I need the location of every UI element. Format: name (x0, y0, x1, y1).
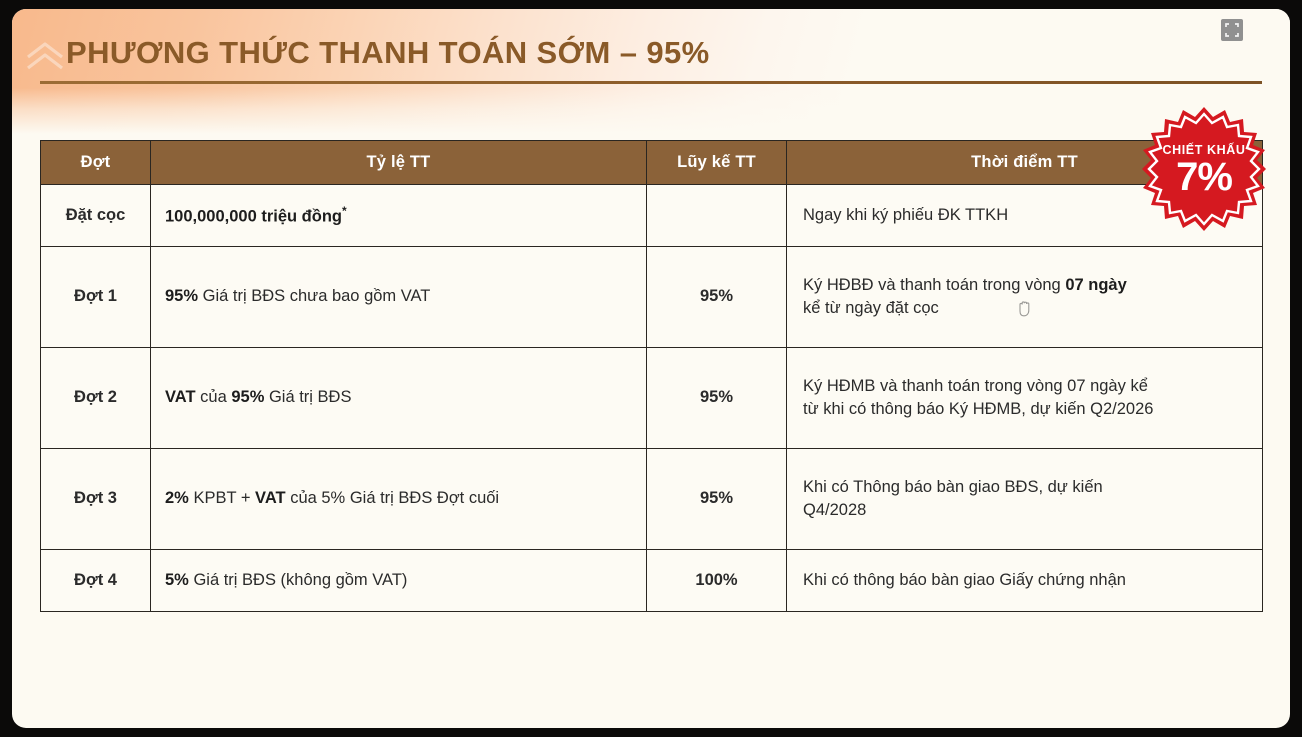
cell-phase: Đợt 4 (41, 550, 151, 612)
ratio-bold: 100,000,000 triệu đồng (165, 207, 342, 225)
cell-cumulative: 95% (647, 348, 787, 449)
cell-cumulative: 95% (647, 449, 787, 550)
ratio-bold-2: 95% (231, 388, 264, 406)
cell-ratio: VAT của 95% Giá trị BĐS (151, 348, 647, 449)
page-title: PHƯƠNG THỨC THANH TOÁN SỚM – 95% (66, 35, 710, 71)
slide-surface: PHƯƠNG THỨC THANH TOÁN SỚM – 95% Hotline… (12, 9, 1290, 728)
time-line-1: Ký HĐMB và thanh toán trong vòng 07 ngày… (803, 377, 1148, 395)
badge-value: 7% (1128, 155, 1280, 200)
ratio-rest: của 5% Giá trị BĐS Đợt cuối (286, 489, 499, 507)
time-line-2: Q4/2028 (803, 501, 866, 519)
ratio-rest: Giá trị BĐS (không gồm VAT) (189, 571, 408, 589)
cell-cumulative: 100% (647, 550, 787, 612)
ratio-bold: 95% (165, 287, 198, 305)
time-line-2: từ khi có thông báo Ký HĐMB, dự kiến Q2/… (803, 400, 1153, 418)
cell-time: Khi có thông báo bàn giao Giấy chứng nhậ… (787, 550, 1263, 612)
payment-schedule-table: Đợt Tỷ lệ TT Lũy kế TT Thời điểm TT Đặt … (40, 140, 1263, 612)
table-row: Đặt cọc 100,000,000 triệu đồng* Ngay khi… (41, 185, 1263, 247)
time-line-2: kể từ ngày đặt cọc (803, 299, 939, 317)
cell-ratio: 100,000,000 triệu đồng* (151, 185, 647, 247)
column-header-cumulative: Lũy kế TT (647, 141, 787, 185)
ratio-bold-2: VAT (255, 489, 286, 507)
fullscreen-button[interactable] (1221, 19, 1243, 41)
table-row: Đợt 4 5% Giá trị BĐS (không gồm VAT) 100… (41, 550, 1263, 612)
ratio-bold: 5% (165, 571, 189, 589)
cell-ratio: 2% KPBT + VAT của 5% Giá trị BĐS Đợt cuố… (151, 449, 647, 550)
table-row: Đợt 1 95% Giá trị BĐS chưa bao gồm VAT 9… (41, 247, 1263, 348)
table-header-row: Đợt Tỷ lệ TT Lũy kế TT Thời điểm TT (41, 141, 1263, 185)
ratio-bold: VAT (165, 388, 196, 406)
cell-time: Ký HĐBĐ và thanh toán trong vòng 07 ngày… (787, 247, 1263, 348)
cell-phase: Đặt cọc (41, 185, 151, 247)
time-line-1: Khi có thông báo bàn giao Giấy chứng nhậ… (803, 571, 1126, 589)
ratio-mid: KPBT + (189, 489, 255, 507)
ratio-bold: 2% (165, 489, 189, 507)
time-line-1: Ký HĐBĐ và thanh toán trong vòng (803, 276, 1065, 294)
cell-cumulative (647, 185, 787, 247)
ratio-rest: Giá trị BĐS chưa bao gồm VAT (198, 287, 430, 305)
ratio-asterisk: * (342, 204, 347, 218)
discount-badge: CHIẾT KHẤU 7% (1128, 105, 1280, 233)
ratio-rest: Giá trị BĐS (264, 388, 351, 406)
time-bold-tail: 07 ngày (1065, 276, 1126, 294)
column-header-phase: Đợt (41, 141, 151, 185)
cell-phase: Đợt 3 (41, 449, 151, 550)
title-underline-rule (40, 81, 1262, 84)
cell-phase: Đợt 1 (41, 247, 151, 348)
time-line-1: Ngay khi ký phiếu ĐK TTKH (803, 206, 1008, 224)
table-row: Đợt 3 2% KPBT + VAT của 5% Giá trị BĐS Đ… (41, 449, 1263, 550)
double-chevron-logo-icon (22, 33, 68, 79)
cell-time: Ký HĐMB và thanh toán trong vòng 07 ngày… (787, 348, 1263, 449)
cell-cumulative: 95% (647, 247, 787, 348)
table-row: Đợt 2 VAT của 95% Giá trị BĐS 95% Ký HĐM… (41, 348, 1263, 449)
cell-ratio: 95% Giá trị BĐS chưa bao gồm VAT (151, 247, 647, 348)
header-gradient-band (12, 9, 1290, 134)
table-header: Đợt Tỷ lệ TT Lũy kế TT Thời điểm TT (41, 141, 1263, 185)
ratio-mid: của (196, 388, 232, 406)
cell-phase: Đợt 2 (41, 348, 151, 449)
cell-time: Khi có Thông báo bàn giao BĐS, dự kiếnQ4… (787, 449, 1263, 550)
screen-root: PHƯƠNG THỨC THANH TOÁN SỚM – 95% Hotline… (0, 0, 1302, 737)
column-header-ratio: Tỷ lệ TT (151, 141, 647, 185)
table-body: Đặt cọc 100,000,000 triệu đồng* Ngay khi… (41, 185, 1263, 612)
cell-ratio: 5% Giá trị BĐS (không gồm VAT) (151, 550, 647, 612)
fullscreen-expand-icon (1225, 23, 1239, 37)
time-line-1: Khi có Thông báo bàn giao BĐS, dự kiến (803, 478, 1103, 496)
